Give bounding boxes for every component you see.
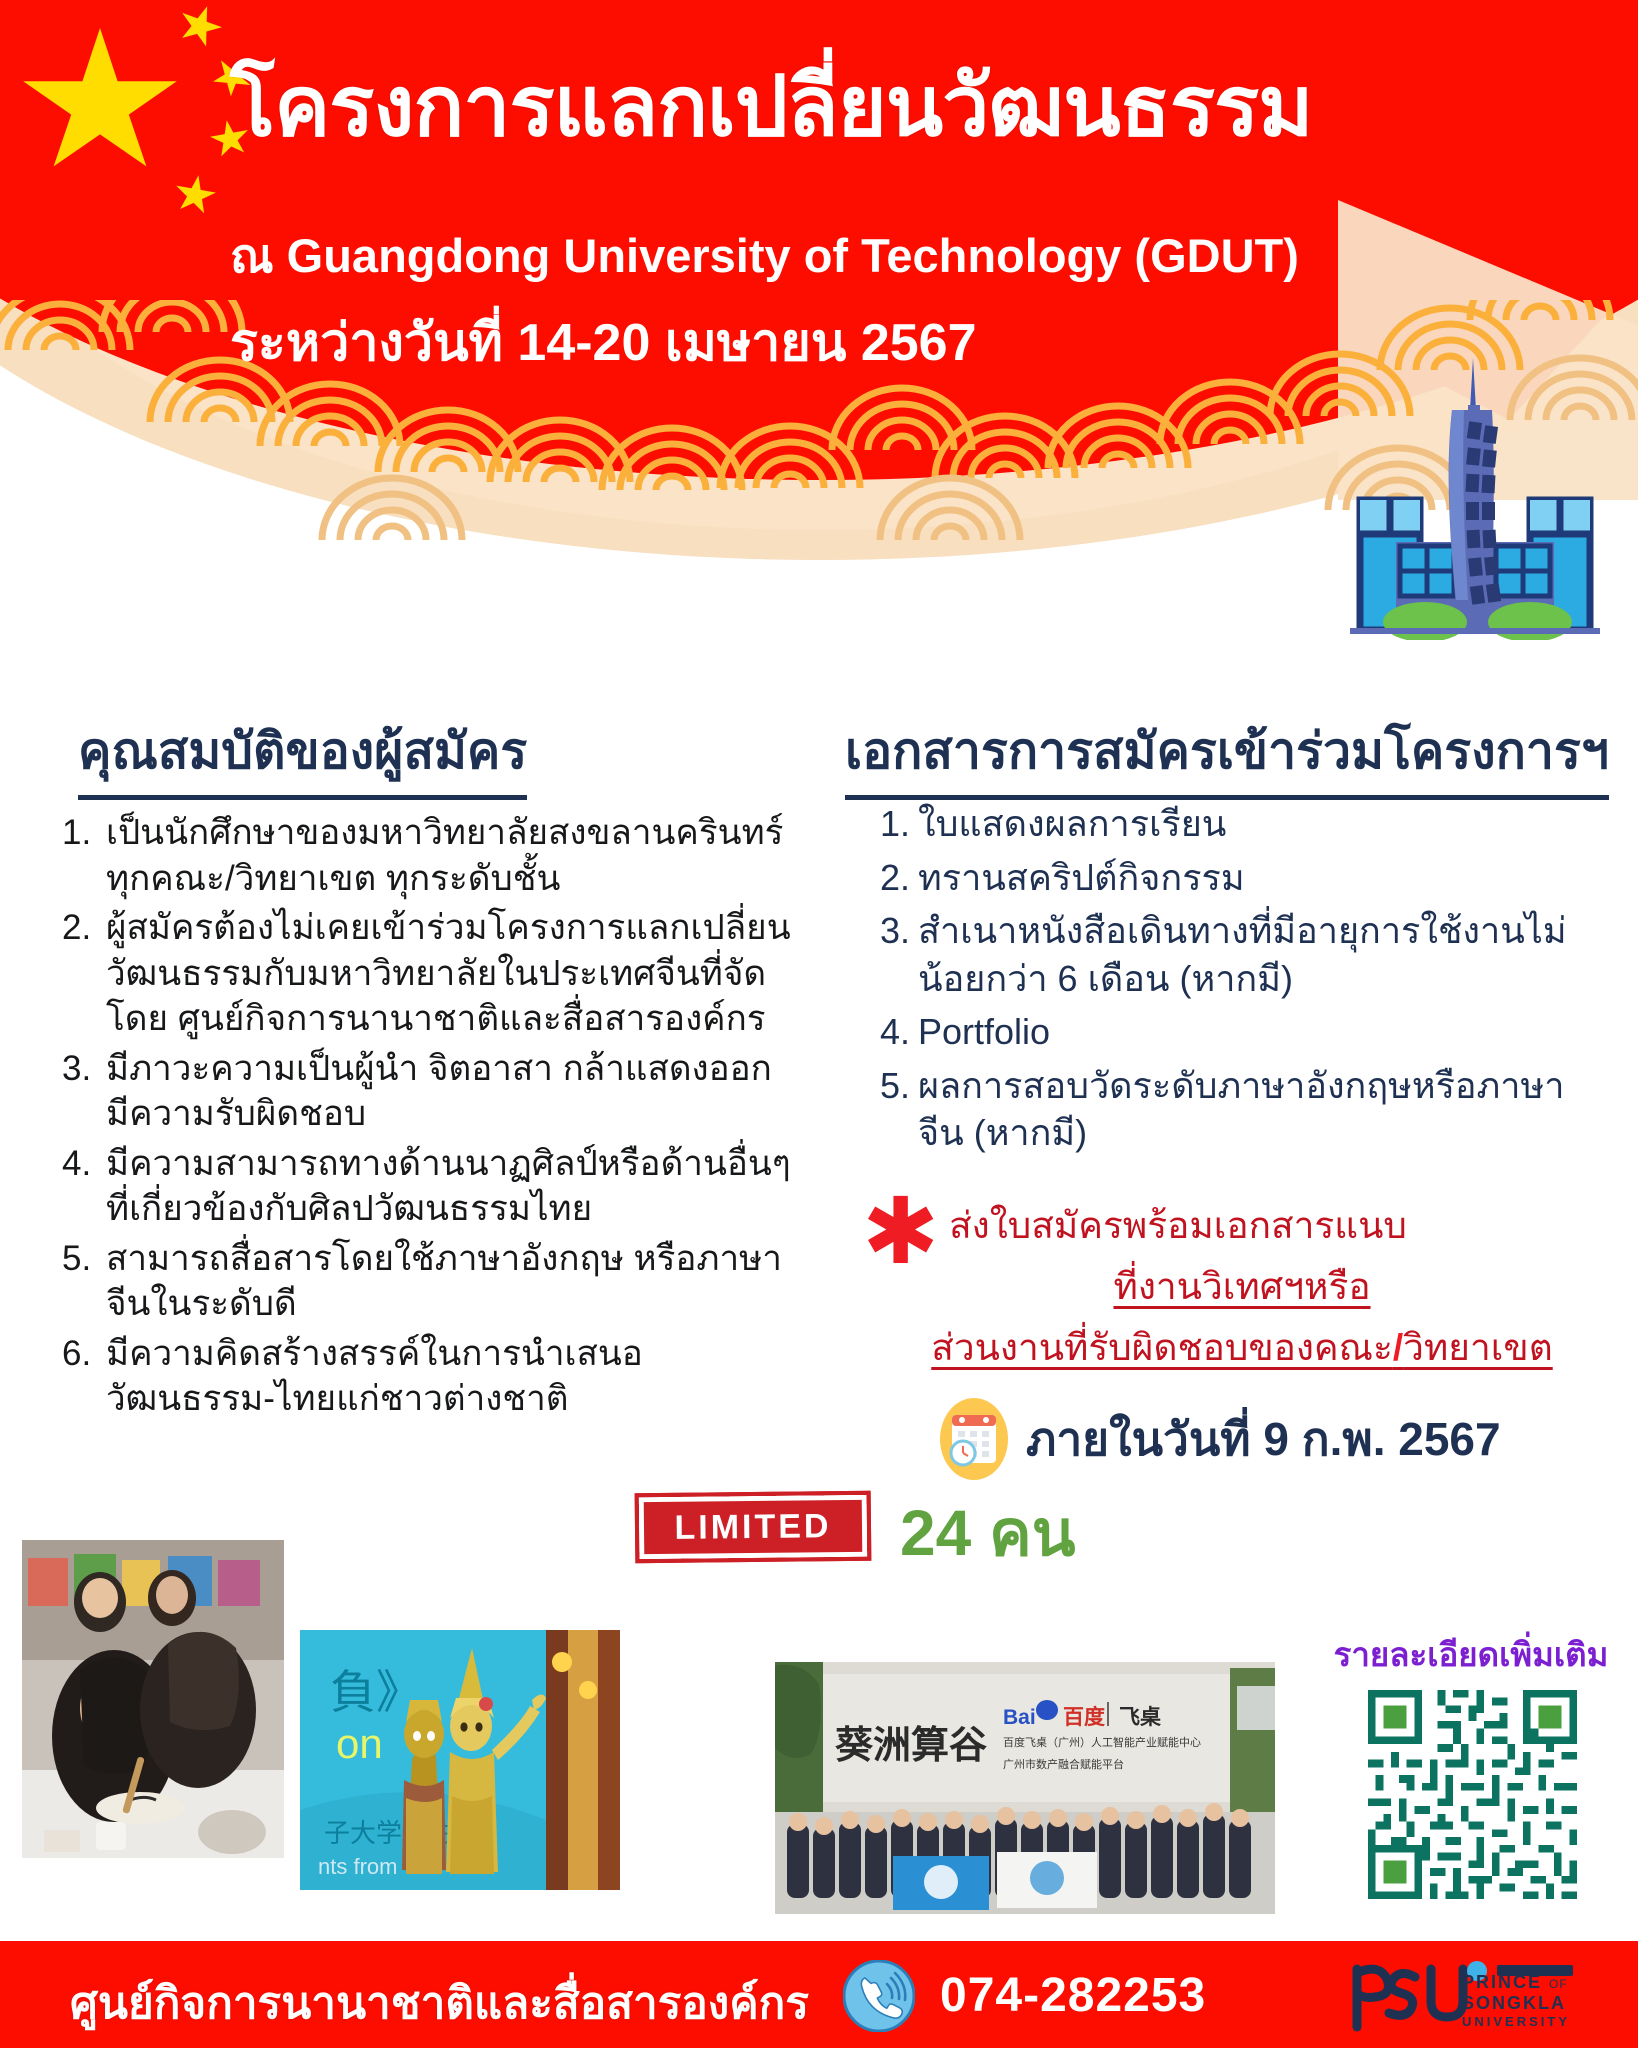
list-item: 5. ผลการสอบวัดระดับภาษาอังกฤษหรือภาษาจีน… [880, 1062, 1600, 1157]
list-item-text: ผลการสอบวัดระดับภาษาอังกฤษหรือภาษาจีน (ห… [918, 1062, 1600, 1157]
calendar-icon [940, 1398, 1008, 1480]
svg-text:飞桌: 飞桌 [1119, 1705, 1162, 1729]
qr-code-icon[interactable] [1360, 1682, 1585, 1907]
psu-logo-text: PRINCE OF SONGKLA UNIVERSITY [1462, 1972, 1570, 2030]
list-item-text: มีภาวะความเป็นผู้นำ จิตอาสา กล้าแสดงออก … [106, 1046, 802, 1137]
list-item: 6. มีความคิดสร้างสรรค์ในการนำเสนอวัฒนธรร… [62, 1331, 802, 1422]
list-item: 1. เป็นนักศึกษาของมหาวิทยาลัยสงขลานครินท… [62, 810, 802, 901]
footer-phone: 074-282253 [940, 1968, 1206, 2023]
note-slash: / [1393, 1327, 1403, 1368]
list-item-text: มีความคิดสร้างสรรค์ในการนำเสนอวัฒนธรรม-ไ… [106, 1331, 802, 1422]
list-item: 4. มีความสามารถทางด้านนาฏศิลป์หรือด้านอื… [62, 1141, 802, 1232]
list-item: 1. ใบแสดงผลการเรียน [880, 800, 1600, 848]
list-item-text: มีความสามารถทางด้านนาฏศิลป์หรือด้านอื่นๆ… [106, 1141, 802, 1232]
psu-prince: PRINCE [1462, 1972, 1542, 1992]
list-item: 3. มีภาวะความเป็นผู้นำ จิตอาสา กล้าแสดงอ… [62, 1046, 802, 1137]
canton-tower-icon [1340, 350, 1610, 640]
list-item-number: 1. [62, 810, 106, 901]
note-line-3: ส่วนงานที่รับผิดชอบของคณะ/วิทยาเขต [862, 1318, 1622, 1377]
list-item-number: 5. [880, 1062, 918, 1157]
qualifications-heading: คุณสมบัติของผู้สมัคร [78, 712, 527, 800]
list-item-text: สำเนาหนังสือเดินทางที่มีอายุการใช้งานไม่… [918, 907, 1600, 1002]
svg-text:广州市数产融合赋能平台: 广州市数产融合赋能平台 [1003, 1757, 1124, 1771]
limited-stamp: LIMITED [635, 1491, 872, 1563]
qr-label: รายละเอียดเพิ่มเติม [1312, 1628, 1630, 1681]
phone-icon [843, 1960, 915, 2032]
psu-of: OF [1549, 1977, 1568, 1991]
psu-line-1: PRINCE OF [1462, 1972, 1570, 1993]
photo-khon-thai-dance-performance: 負》 on 子大学学生 nts from [300, 1630, 620, 1890]
list-item-number: 4. [880, 1008, 918, 1056]
list-item-number: 6. [62, 1331, 106, 1422]
note-line-1: ส่งใบสมัครพร้อมเอกสารแนบ [949, 1196, 1407, 1255]
svg-text:nts from: nts from [318, 1854, 397, 1879]
poster-root: โครงการแลกเปลี่ยนวัฒนธรรม ณ Guangdong Un… [0, 0, 1638, 2048]
header-subtitle: ณ Guangdong University of Technology (GD… [230, 228, 1560, 284]
header-banner: โครงการแลกเปลี่ยนวัฒนธรรม ณ Guangdong Un… [0, 0, 1638, 660]
submission-note: ✱ ส่งใบสมัครพร้อมเอกสารแนบ ที่งานวิเทศฯห… [862, 1196, 1622, 1377]
list-item: 2. ผู้สมัครต้องไม่เคยเข้าร่วมโครงการแลกเ… [62, 905, 802, 1042]
list-item-number: 4. [62, 1141, 106, 1232]
list-item-text: ใบแสดงผลการเรียน [918, 800, 1600, 848]
list-item-text: สามารถสื่อสารโดยใช้ภาษาอังกฤษ หรือภาษาจี… [106, 1236, 802, 1327]
note-line-2: ที่งานวิเทศฯหรือ [862, 1257, 1622, 1316]
list-item-text: เป็นนักศึกษาของมหาวิทยาลัยสงขลานครินทร์ … [106, 810, 802, 901]
list-item-text: ทรานสคริปต์กิจกรรม [918, 854, 1600, 902]
photo-group-at-pazhou-suangu: 葵洲算谷 Bai 百度 飞桌 百度飞桌（广州）人工智能产业赋能中心 广州市数产融… [775, 1662, 1275, 1914]
documents-list: 1. ใบแสดงผลการเรียน 2. ทรานสคริปต์กิจกรร… [880, 800, 1600, 1163]
list-item: 5. สามารถสื่อสารโดยใช้ภาษาอังกฤษ หรือภาษ… [62, 1236, 802, 1327]
limited-stamp-label: LIMITED [674, 1507, 831, 1548]
deadline-text: ภายในวันที่ 9 ก.พ. 2567 [1026, 1403, 1501, 1476]
list-item-number: 3. [62, 1046, 106, 1137]
list-item-number: 3. [880, 907, 918, 1002]
svg-text:百度: 百度 [1063, 1705, 1105, 1729]
list-item-number: 2. [62, 905, 106, 1042]
list-item: 2. ทรานสคริปต์กิจกรรม [880, 854, 1600, 902]
documents-heading: เอกสารการสมัครเข้าร่วมโครงการฯ [845, 712, 1609, 800]
svg-text:葵洲算谷: 葵洲算谷 [835, 1723, 987, 1767]
qualifications-list: 1. เป็นนักศึกษาของมหาวิทยาลัยสงขลานครินท… [62, 810, 802, 1426]
asterisk-icon: ✱ [862, 1207, 939, 1257]
seat-count: 24 คน [900, 1482, 1076, 1584]
list-item-text: Portfolio [918, 1008, 1600, 1056]
svg-text:Bai: Bai [1003, 1706, 1036, 1729]
page-title: โครงการแลกเปลี่ยนวัฒนธรรม [230, 62, 1560, 150]
svg-text:on: on [336, 1720, 383, 1767]
list-item-number: 2. [880, 854, 918, 902]
list-item: 3. สำเนาหนังสือเดินทางที่มีอายุการใช้งาน… [880, 907, 1600, 1002]
list-item-number: 1. [880, 800, 918, 848]
photo-calligraphy-workshop [22, 1540, 284, 1858]
deadline-block: ภายในวันที่ 9 ก.พ. 2567 [940, 1398, 1501, 1480]
list-item-text: ผู้สมัครต้องไม่เคยเข้าร่วมโครงการแลกเปลี… [106, 905, 802, 1042]
psu-line-2: SONGKLA [1462, 1993, 1570, 2014]
list-item-number: 5. [62, 1236, 106, 1327]
list-item: 4. Portfolio [880, 1008, 1600, 1056]
psu-line-3: UNIVERSITY [1462, 2014, 1570, 2029]
note-line-3b: วิทยาเขต [1403, 1327, 1553, 1368]
svg-text:百度飞桌（广州）人工智能产业赋能中心: 百度飞桌（广州）人工智能产业赋能中心 [1003, 1735, 1201, 1749]
footer-organization: ศูนย์กิจการนานาชาติและสื่อสารองค์กร [70, 1968, 809, 2038]
note-line-3a: ส่วนงานที่รับผิดชอบของคณะ [931, 1327, 1393, 1368]
